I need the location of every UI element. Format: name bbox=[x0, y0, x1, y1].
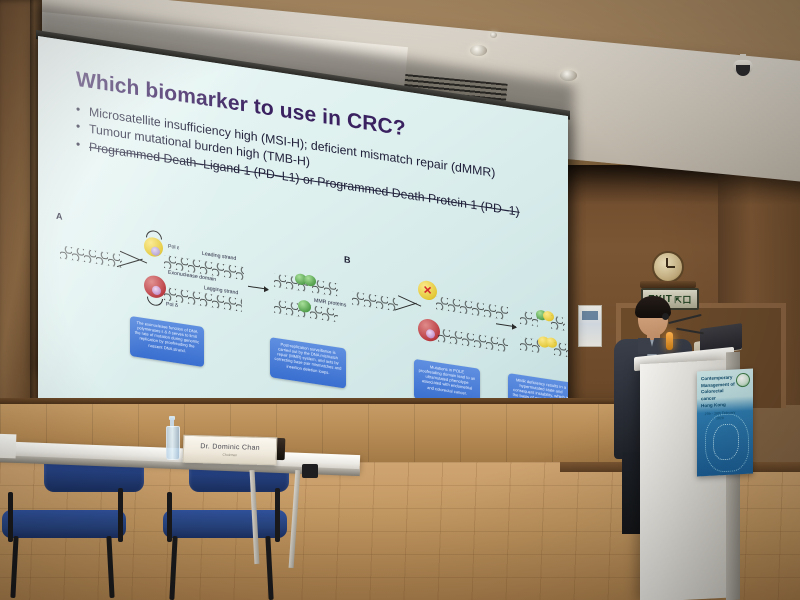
panel-a-letter: A bbox=[56, 211, 63, 222]
banner-title-line: Hong Kong bbox=[701, 401, 739, 410]
dna-strand bbox=[554, 342, 568, 357]
mutation-x-marker-icon: ✕ bbox=[423, 283, 432, 297]
callout-box: Post-replication surveillance is carried… bbox=[270, 337, 346, 388]
ceiling-downlight-icon bbox=[490, 32, 497, 38]
colon-graphic-inner-icon bbox=[713, 423, 739, 460]
callout-box: The exonuclease function of DNA polymera… bbox=[130, 316, 204, 367]
podium-lamp-icon bbox=[666, 332, 673, 350]
pol-delta-core-icon bbox=[426, 329, 435, 339]
nameplate-name: Dr. Dominic Chan bbox=[200, 443, 260, 452]
process-arrow-icon bbox=[496, 323, 516, 327]
figure-label: Pol ε bbox=[168, 244, 179, 252]
nameplate-subtitle: Chairman bbox=[222, 452, 237, 456]
wall-poster bbox=[578, 305, 602, 347]
dna-strand bbox=[551, 316, 565, 331]
ceiling-downlight-icon bbox=[560, 70, 577, 81]
chair bbox=[30, 452, 160, 600]
paper-sheet bbox=[0, 434, 16, 459]
wood-skirt-rail bbox=[0, 398, 640, 404]
dna-strand bbox=[436, 296, 508, 320]
dna-strand bbox=[60, 245, 122, 267]
clock-shelf bbox=[640, 281, 696, 288]
process-arrow-icon bbox=[248, 286, 268, 290]
podium-conference-banner: Contemporary Management of Colorectal ca… bbox=[697, 369, 753, 477]
dna-strand bbox=[438, 328, 508, 352]
figure-label: Pol δ bbox=[166, 301, 178, 309]
dna-strand bbox=[352, 291, 398, 311]
microphone-head-icon bbox=[662, 313, 669, 320]
dna-strand bbox=[310, 305, 338, 322]
pol-delta-core-icon bbox=[152, 285, 161, 295]
figure-label: Leading strand bbox=[202, 251, 236, 262]
lecture-hall-photo: EXIT ⇱口 Which biomarker to use in CRC? M… bbox=[0, 0, 800, 600]
security-camera-icon bbox=[733, 54, 753, 76]
nameplate: Dr. Dominic Chan Chairman bbox=[183, 435, 278, 466]
water-bottle bbox=[166, 418, 178, 458]
dna-strand bbox=[312, 279, 338, 296]
pol-epsilon-core-icon bbox=[151, 246, 160, 256]
dna-strand bbox=[520, 337, 540, 353]
table-corner-cap bbox=[302, 464, 318, 478]
replication-direction-arrow-icon bbox=[147, 296, 163, 306]
ceiling-downlight-icon bbox=[470, 45, 487, 56]
panel-b-letter: B bbox=[344, 254, 351, 265]
wall-clock-icon bbox=[652, 251, 684, 283]
